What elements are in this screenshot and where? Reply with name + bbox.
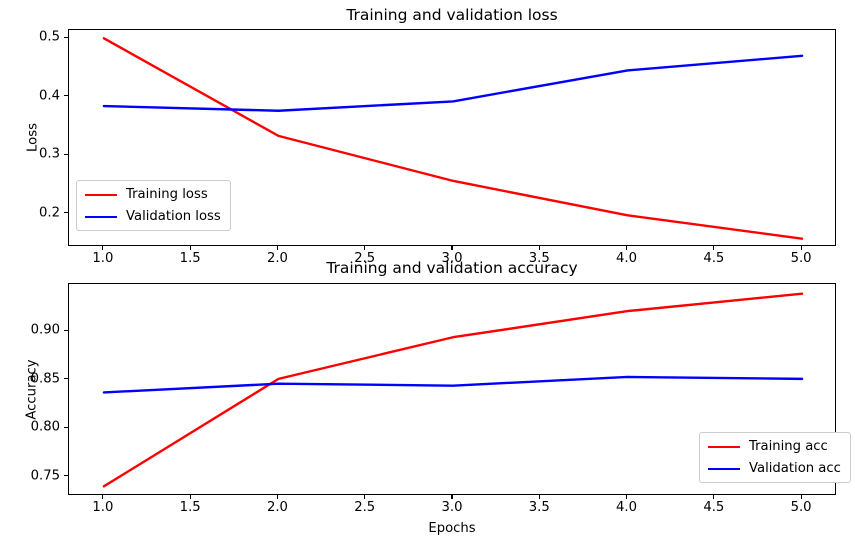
y-tick-mark xyxy=(64,330,68,331)
accuracy-chart-xlabel: Epochs xyxy=(68,521,836,536)
x-tick-mark xyxy=(626,246,627,250)
x-tick-mark xyxy=(713,246,714,250)
x-tick-label: 4.5 xyxy=(703,500,724,515)
x-tick-mark xyxy=(451,246,452,250)
legend-item-label: Training acc xyxy=(749,439,828,454)
loss-chart-ylabel: Loss xyxy=(26,98,41,178)
x-tick-label: 2.5 xyxy=(354,500,375,515)
accuracy-chart-title: Training and validation accuracy xyxy=(68,259,836,277)
legend-item[interactable]: Validation acc xyxy=(708,461,841,476)
legend-item[interactable]: Training acc xyxy=(708,439,841,454)
x-tick-mark xyxy=(713,495,714,499)
training-loss-color-swatch xyxy=(85,194,117,196)
y-tick-mark xyxy=(64,427,68,428)
y-tick-label: 0.90 xyxy=(16,323,60,338)
accuracy-chart-legend[interactable]: Training acc Validation acc xyxy=(699,432,851,483)
legend-item-label: Training loss xyxy=(126,187,208,202)
series-line xyxy=(104,56,802,111)
x-tick-label: 3.0 xyxy=(442,500,463,515)
legend-item-label: Validation acc xyxy=(749,461,841,476)
x-tick-mark xyxy=(539,246,540,250)
series-line xyxy=(104,294,802,487)
x-tick-mark xyxy=(102,495,103,499)
legend-item-label: Validation loss xyxy=(126,209,221,224)
y-tick-label: 0.85 xyxy=(16,371,60,386)
validation-acc-color-swatch xyxy=(708,468,740,470)
y-tick-mark xyxy=(64,37,68,38)
y-tick-label: 0.80 xyxy=(16,420,60,435)
x-tick-mark xyxy=(801,495,802,499)
x-tick-mark xyxy=(364,495,365,499)
x-tick-mark xyxy=(801,246,802,250)
loss-chart-legend[interactable]: Training loss Validation loss xyxy=(76,180,231,231)
y-tick-mark xyxy=(64,95,68,96)
x-tick-label: 1.0 xyxy=(92,500,113,515)
validation-loss-color-swatch xyxy=(85,216,117,218)
y-tick-label: 0.3 xyxy=(16,147,60,162)
y-tick-label: 0.4 xyxy=(16,88,60,103)
matplotlib-figure: Training and validation loss Loss 1.01.5… xyxy=(0,0,855,547)
x-tick-mark xyxy=(190,246,191,250)
y-tick-mark xyxy=(64,212,68,213)
y-tick-mark xyxy=(64,154,68,155)
y-tick-label: 0.2 xyxy=(16,205,60,220)
x-tick-label: 4.0 xyxy=(616,500,637,515)
y-tick-mark xyxy=(64,475,68,476)
x-tick-mark xyxy=(539,495,540,499)
legend-item[interactable]: Training loss xyxy=(85,187,221,202)
x-tick-label: 3.5 xyxy=(529,500,550,515)
y-tick-mark xyxy=(64,378,68,379)
x-tick-mark xyxy=(451,495,452,499)
series-line xyxy=(104,377,802,392)
x-tick-mark xyxy=(277,246,278,250)
x-tick-label: 2.0 xyxy=(267,500,288,515)
x-tick-mark xyxy=(277,495,278,499)
y-tick-label: 0.5 xyxy=(16,30,60,45)
loss-chart-title: Training and validation loss xyxy=(68,6,836,24)
x-tick-label: 1.5 xyxy=(180,500,201,515)
x-tick-mark xyxy=(364,246,365,250)
x-tick-label: 5.0 xyxy=(791,500,812,515)
training-acc-color-swatch xyxy=(708,446,740,448)
x-tick-mark xyxy=(626,495,627,499)
legend-item[interactable]: Validation loss xyxy=(85,209,221,224)
y-tick-label: 0.75 xyxy=(16,468,60,483)
x-tick-mark xyxy=(102,246,103,250)
x-tick-mark xyxy=(190,495,191,499)
